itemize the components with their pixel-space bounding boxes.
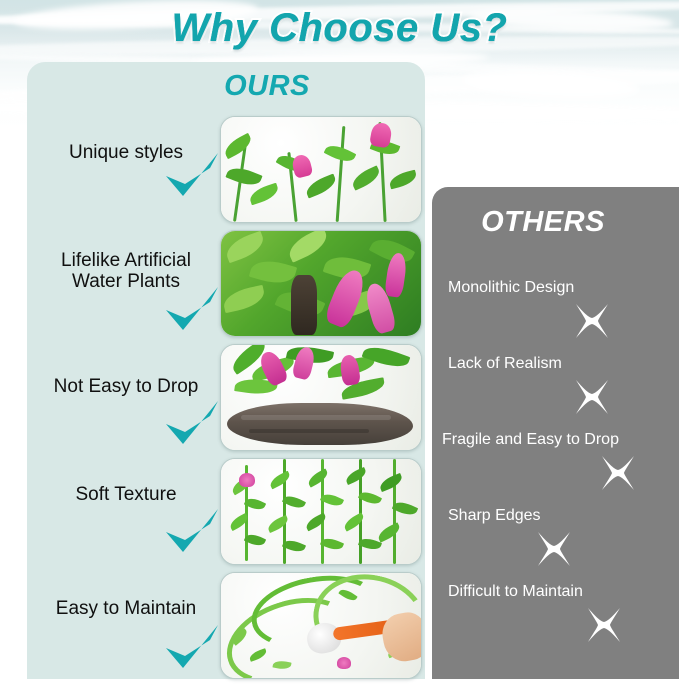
- others-heading: OTHERS: [432, 206, 654, 239]
- ours-item-label: Not Easy to Drop: [31, 376, 221, 397]
- ours-panel: OURS Unique styles: [27, 62, 425, 679]
- ours-heading: OURS: [147, 70, 387, 103]
- check-icon: [163, 400, 221, 448]
- ours-item-image: [220, 230, 422, 337]
- ours-row: Easy to Maintain: [27, 566, 425, 684]
- ours-item-label: Soft Texture: [31, 484, 221, 505]
- x-icon: [598, 453, 638, 493]
- x-icon: [584, 605, 624, 645]
- ours-row: Lifelike Artificial Water Plants: [27, 224, 425, 342]
- others-item-label: Sharp Edges: [448, 507, 541, 525]
- ours-item-image: [220, 344, 422, 451]
- x-icon: [534, 529, 574, 569]
- others-item-label: Lack of Realism: [448, 355, 562, 373]
- infographic-canvas: Why Choose Us? Why Choose Us? OURS Uniqu…: [0, 0, 679, 679]
- x-icon: [572, 301, 612, 341]
- others-item-label: Difficult to Maintain: [448, 583, 583, 601]
- ours-row: Not Easy to Drop: [27, 338, 425, 456]
- ours-row: Unique styles: [27, 110, 425, 228]
- others-item-label: Monolithic Design: [448, 279, 574, 297]
- ours-item-label-line1: Lifelike Artificial: [61, 250, 191, 271]
- ours-item-image: [220, 572, 422, 679]
- page-title: Why Choose Us?: [0, 6, 679, 51]
- ours-row: Soft Texture: [27, 452, 425, 570]
- ours-item-image: [220, 116, 422, 223]
- check-icon: [163, 508, 221, 556]
- ours-item-label: Easy to Maintain: [31, 598, 221, 619]
- others-panel: OTHERS Monolithic Design Lack of Realism…: [432, 187, 679, 679]
- check-icon: [163, 152, 221, 200]
- ours-item-image: [220, 458, 422, 565]
- check-icon: [163, 624, 221, 672]
- check-icon: [163, 286, 221, 334]
- others-item-label: Fragile and Easy to Drop: [442, 431, 619, 449]
- x-icon: [572, 377, 612, 417]
